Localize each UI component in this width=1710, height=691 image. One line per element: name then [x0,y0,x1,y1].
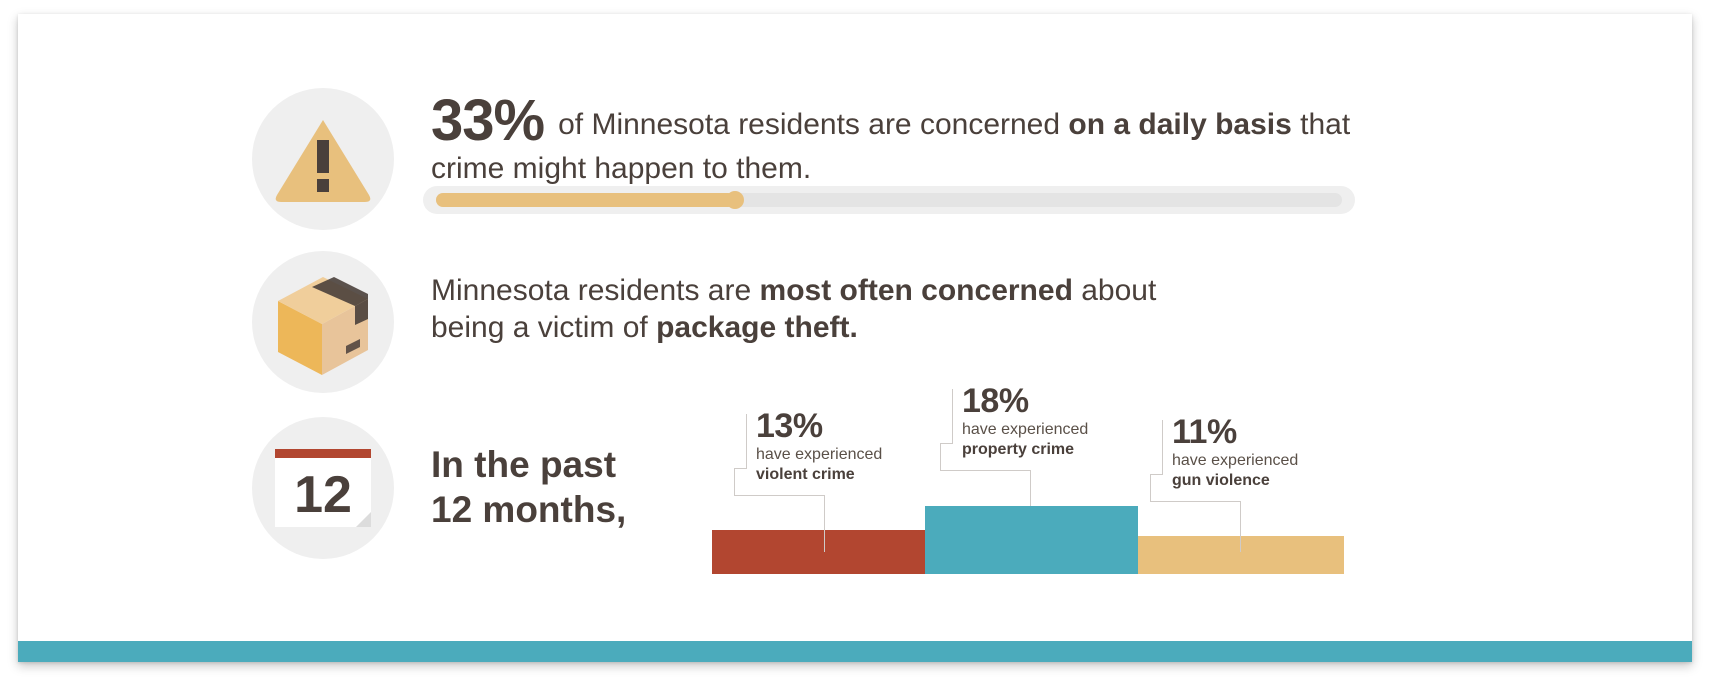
warning-triangle-glyph [252,88,394,230]
infographic-canvas: 33%of Minnesota residents are concerned … [0,0,1710,691]
leader-line-3-vertical [1240,502,1242,552]
callout-0-sub: have experienced violent crime [756,445,882,485]
progress-bar-inner-track [436,193,1342,207]
leader-line-2-stub [940,443,942,471]
leader-line-3-horizontal [1150,501,1241,503]
leader-line-1-stub [734,468,736,496]
callout-1-percent: 18% [962,382,1088,420]
infographic-card: 33%of Minnesota residents are concerned … [18,14,1692,662]
crime-experience-bar-chart: 13% have experienced violent crime 18% h… [712,374,1362,574]
callout-0-sub-bold: violent crime [756,466,855,483]
leader-line-3-tick-join [1150,474,1163,476]
card-bottom-accent-bar [18,641,1692,662]
progress-bar-knob[interactable] [726,191,744,209]
stat-value-33: 33% [431,88,544,153]
warning-triangle-icon [252,88,394,230]
svg-text:12: 12 [294,466,352,524]
past-12-months-headline: In the past 12 months, [431,442,711,532]
headline3-line2: 12 months, [431,489,626,530]
calendar-icon: 12 [252,417,394,559]
leader-line-3-tick [1162,420,1164,474]
calendar-glyph: 12 [252,417,394,559]
callout-1-sub-prefix: have experienced [962,421,1088,438]
leader-line-1-vertical [824,496,826,552]
stat-text-part1: of Minnesota residents are concerned [558,108,1068,141]
para2-bold1: most often concerned [760,274,1073,307]
leader-line-2-vertical [1030,471,1032,506]
callout-1-sub-bold: property crime [962,441,1074,458]
callout-2-percent: 11% [1172,413,1298,451]
leader-line-2-horizontal [940,470,1031,472]
package-box-icon [252,251,394,393]
callout-2-sub: have experienced gun violence [1172,451,1298,491]
callout-violent-crime: 13% have experienced violent crime [756,407,882,485]
leader-line-3-stub [1150,474,1152,502]
leader-line-1-tick [746,414,748,468]
progress-bar-fill [436,193,735,207]
leader-line-2-tick-join [940,443,953,445]
callout-property-crime: 18% have experienced property crime [962,382,1088,460]
progress-bar-track [423,186,1355,214]
leader-line-1-horizontal [734,495,825,497]
headline3-line1: In the past [431,444,616,485]
stat-text-bold1: on a daily basis [1068,108,1291,141]
callout-0-sub-prefix: have experienced [756,446,882,463]
para2-part1: Minnesota residents are [431,274,760,307]
package-box-glyph [252,251,394,393]
leader-line-1-tick-join [734,468,747,470]
bar-violent-crime[interactable] [712,530,925,574]
package-theft-paragraph: Minnesota residents are most often conce… [431,272,1221,346]
para2-bold2: package theft. [656,311,858,344]
stat-headline-1: 33%of Minnesota residents are concerned … [431,92,1371,187]
callout-gun-violence: 11% have experienced gun violence [1172,413,1298,491]
leader-line-2-tick [952,389,954,443]
callout-2-sub-bold: gun violence [1172,472,1270,489]
callout-2-sub-prefix: have experienced [1172,452,1298,469]
callout-0-percent: 13% [756,407,882,445]
callout-1-sub: have experienced property crime [962,420,1088,460]
bar-property-crime[interactable] [925,506,1138,574]
